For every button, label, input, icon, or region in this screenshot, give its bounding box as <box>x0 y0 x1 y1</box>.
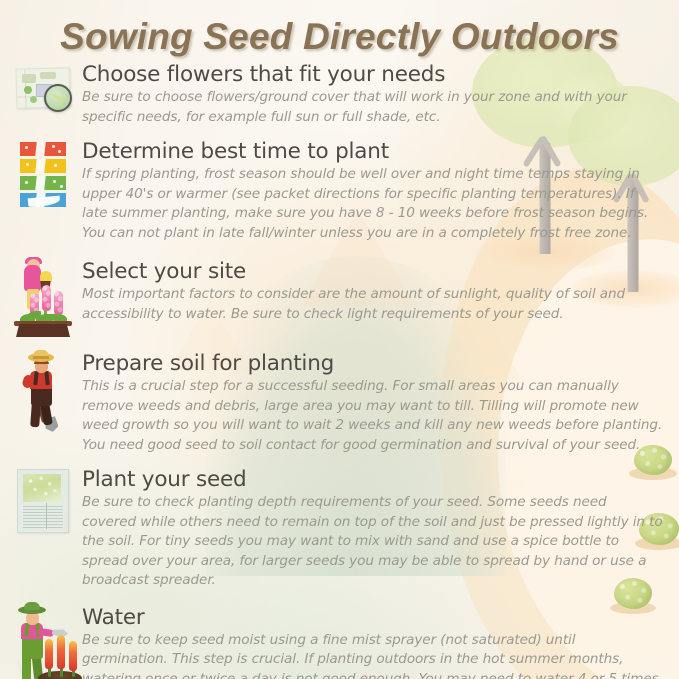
step-4-icon-wrap <box>10 351 76 433</box>
step-2-heading: Determine best time to plant <box>82 139 663 164</box>
step-6-body: Water Be sure to keep seed moist using a… <box>76 605 667 679</box>
step-2-description: If spring planting, frost season should … <box>82 165 663 243</box>
step-5-body: Plant your seed Be sure to check plantin… <box>76 467 667 591</box>
step-4-body: Prepare soil for planting This is a cruc… <box>76 351 667 455</box>
step-item-5: Plant your seed Be sure to check plantin… <box>0 467 679 591</box>
step-item-2: Determine best time to plant If spring p… <box>0 139 679 243</box>
step-item-1: Choose flowers that fit your needs Be su… <box>0 62 679 127</box>
gardener-with-shovel-icon <box>15 351 71 433</box>
step-5-heading: Plant your seed <box>82 467 663 492</box>
steps-list: Choose flowers that fit your needs Be su… <box>0 62 679 679</box>
step-4-description: This is a crucial step for a successful … <box>82 377 663 455</box>
step-5-description: Be sure to check planting depth requirem… <box>82 493 663 591</box>
step-1-body: Choose flowers that fit your needs Be su… <box>76 62 667 127</box>
step-1-icon-wrap <box>10 62 76 108</box>
garden-plan-magnifier-icon <box>14 66 72 112</box>
step-1-heading: Choose flowers that fit your needs <box>82 62 663 87</box>
step-3-description: Most important factors to consider are t… <box>82 285 663 324</box>
gardener-with-foxglove-planter-icon <box>12 259 74 337</box>
step-3-body: Select your site Most important factors … <box>76 259 667 324</box>
step-2-body: Determine best time to plant If spring p… <box>76 139 667 243</box>
page-title: Sowing Seed Directly Outdoors <box>0 16 679 58</box>
step-item-4: Prepare soil for planting This is a cruc… <box>0 351 679 455</box>
step-2-icon-wrap <box>10 139 76 205</box>
step-item-6: Water Be sure to keep seed moist using a… <box>0 605 679 679</box>
step-5-icon-wrap <box>10 467 76 531</box>
step-4-heading: Prepare soil for planting <box>82 351 663 376</box>
infographic-poster: Sowing Seed Directly Outdoors Choose flo… <box>0 0 679 679</box>
step-3-icon-wrap <box>10 259 76 337</box>
step-6-icon-wrap <box>10 605 76 679</box>
step-item-3: Select your site Most important factors … <box>0 259 679 337</box>
gardener-watering-icon <box>10 605 76 679</box>
seed-packet-icon <box>17 469 69 533</box>
step-3-heading: Select your site <box>82 259 663 284</box>
step-1-description: Be sure to choose flowers/ground cover t… <box>82 88 663 127</box>
step-6-heading: Water <box>82 605 663 630</box>
four-seasons-icon <box>20 142 66 208</box>
step-6-description: Be sure to keep seed moist using a fine … <box>82 631 663 679</box>
